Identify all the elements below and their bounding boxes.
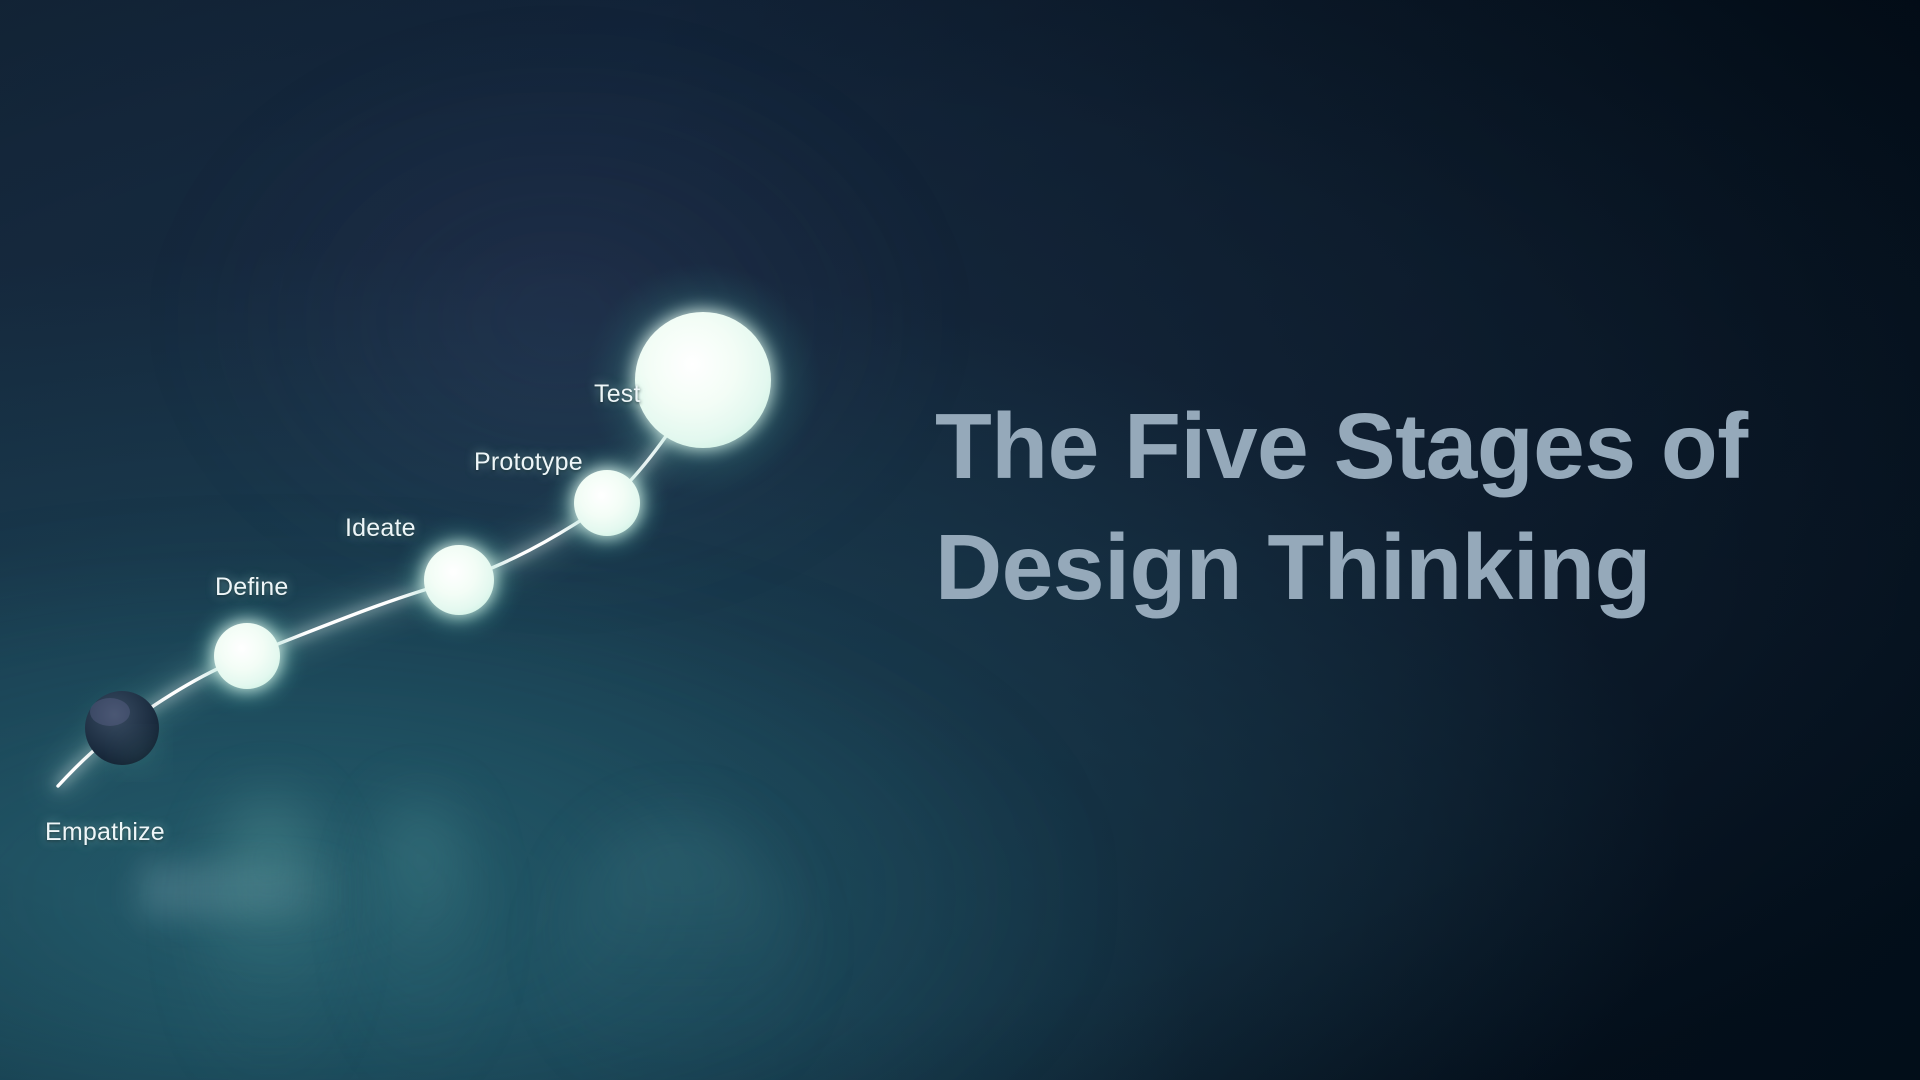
label-empathize: Empathize [45, 818, 165, 847]
design-thinking-slide: Empathize Define Ideate Prototype Test T… [0, 0, 1920, 1080]
title-line-2: Design Thinking [935, 507, 1855, 628]
node-define[interactable] [185, 594, 309, 718]
label-test: Test [594, 380, 641, 409]
label-define: Define [215, 573, 288, 602]
label-prototype: Prototype [474, 448, 583, 477]
page-title: The Five Stages of Design Thinking [935, 386, 1855, 628]
label-ideate: Ideate [345, 514, 416, 543]
title-line-1: The Five Stages of [935, 386, 1855, 507]
node-empathize[interactable] [64, 670, 180, 786]
